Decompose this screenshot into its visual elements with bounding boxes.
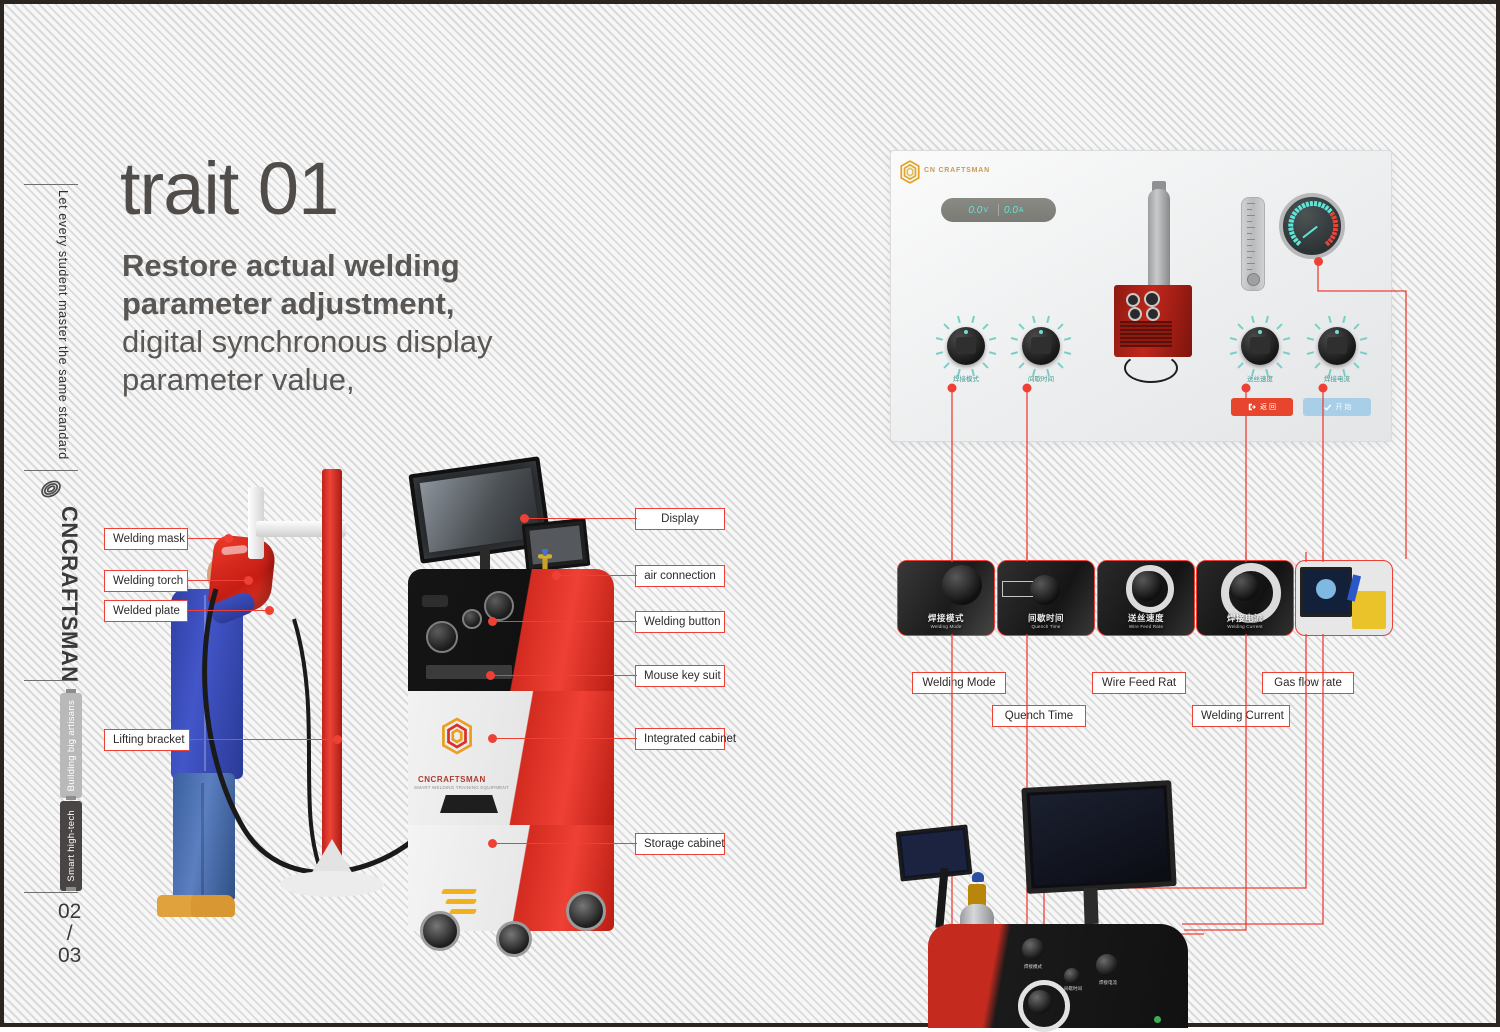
gas-flow-tube (1241, 197, 1265, 291)
back-button-label: 返 回 (1260, 402, 1276, 412)
welder-port (1126, 293, 1140, 307)
knob-ray (1277, 362, 1283, 368)
mode-dial (942, 565, 982, 605)
welder-vent (1120, 321, 1172, 347)
wire-feed-rate-knob[interactable] (1241, 327, 1279, 365)
subtitle-line-4: parameter value, (122, 361, 642, 399)
pill-smart-high-tech: Smart high-tech (60, 801, 82, 891)
cncraftsman-logo-icon (38, 476, 64, 502)
callout-display: Display (635, 508, 725, 530)
panel-tab (422, 595, 448, 607)
simulator-software-panel: CN CRAFTSMAN 0.0 V 0.0 A 焊接模式 间歇时间 送丝速度 (890, 150, 1392, 442)
page-current: 02 (58, 901, 81, 923)
feed-dial (1132, 571, 1162, 601)
mouse-key-drawer[interactable] (440, 795, 498, 813)
callout-welding-button: Welding button (635, 611, 725, 633)
flow-tick (1247, 263, 1255, 264)
panel-brand-label: CN CRAFTSMAN (924, 167, 990, 174)
sidebar-divider (24, 892, 78, 893)
hazard-stripe (441, 889, 477, 894)
subtitle-line-2: parameter adjustment, (122, 285, 642, 323)
callout-dot (520, 514, 529, 523)
knob-ray (1230, 352, 1237, 355)
knob-ray (1046, 316, 1049, 323)
thumbnail-label: 送丝速度Wire Feed Rate (1098, 612, 1194, 629)
knob-ray (1251, 316, 1254, 323)
knob-ray (1360, 351, 1367, 354)
knob-ray (1019, 363, 1025, 369)
leader-line (491, 675, 637, 676)
knob-ray (1058, 362, 1064, 368)
knob-ray (989, 337, 996, 340)
knob-ray (1307, 352, 1314, 355)
knob-ray (1360, 337, 1367, 340)
lifting-bracket-column (322, 469, 342, 861)
current-unit: A (1019, 207, 1024, 214)
station-closeup-photo: 焊接模式 间歇时间 焊接电流 (894, 756, 1374, 1028)
page-total: 03 (58, 945, 81, 967)
flow-tick (1247, 209, 1252, 210)
knob-ray (1283, 337, 1290, 340)
gauge-tick (1288, 228, 1293, 231)
knob-ray (1230, 337, 1237, 340)
flow-tube-float (1247, 273, 1260, 286)
sidebar-divider (24, 680, 78, 681)
current-value: 0.0 (1004, 205, 1018, 216)
hazard-stripe (449, 909, 477, 914)
gauge-tick (1332, 228, 1337, 231)
knob-ray (1314, 324, 1320, 330)
caster-wheel (420, 911, 460, 951)
welder-equipment-illustration (1096, 181, 1216, 401)
callout-integrated-cabinet: Integrated cabinet (635, 728, 725, 750)
callout-dot (224, 534, 233, 543)
leader-line (188, 610, 270, 611)
welding-mode-knob[interactable] (947, 327, 985, 365)
knob-ray (1064, 337, 1071, 340)
caster-wheel (496, 921, 532, 957)
cylinder-handwheel (972, 872, 984, 882)
flow-tick (1247, 221, 1252, 222)
knob-face (1031, 337, 1051, 354)
monitor-stand (1083, 888, 1098, 924)
exit-icon (1248, 403, 1256, 411)
gas-cylinder (1148, 189, 1170, 295)
gauge-needle (1302, 226, 1317, 239)
flow-tick (1247, 239, 1255, 240)
machine-control-face: 焊接模式 间歇时间 焊接电流 (928, 924, 1188, 1028)
welding-current-knob[interactable] (1318, 327, 1356, 365)
welder-port (1128, 307, 1142, 321)
leader-line (188, 580, 250, 581)
flow-tick (1247, 245, 1252, 246)
knob-ray (1011, 337, 1018, 340)
gauge-callout-dot (1314, 257, 1323, 266)
torch-cable-coil (1124, 353, 1178, 383)
knob-ray (1238, 363, 1244, 369)
auxiliary-monitor (896, 824, 973, 881)
knob-ray (1237, 324, 1243, 330)
callout-welding-mask: Welding mask (104, 528, 188, 550)
flow-tick (1247, 251, 1255, 252)
welding-current-dial[interactable] (1096, 954, 1118, 976)
knob-ray (1315, 363, 1321, 369)
bracket-base-disk (280, 871, 384, 897)
sidebar-tagline: Let every student master the same standa… (56, 190, 70, 460)
knob-ray (1057, 323, 1063, 329)
callout-dot (265, 606, 274, 615)
thumbnail-label: 焊接模式Welding Mode (898, 612, 994, 629)
knob-ray (1011, 352, 1018, 355)
leader-line (557, 575, 637, 576)
quench-time-dial[interactable] (462, 609, 482, 629)
pill-cap (66, 796, 76, 800)
quench-dial (1030, 575, 1060, 605)
thumbnail-welding-mode[interactable]: 焊接模式Welding Mode (897, 560, 995, 636)
quench-time-knob-label: 间歇时间 (1012, 373, 1070, 383)
knob-indicator (1335, 330, 1339, 334)
thumbnail-wire-feed-rate[interactable]: 送丝速度Wire Feed Rate (1097, 560, 1195, 636)
callout-mouse-key-suit: Mouse key suit (635, 665, 725, 687)
pill-cap (66, 887, 76, 891)
voltage-value: 0.0 (968, 205, 982, 216)
check-icon (1323, 403, 1332, 412)
callout-lifting-bracket: Lifting bracket (104, 729, 190, 751)
leader-line (493, 843, 637, 844)
thumbnail-gas-flow-rate[interactable] (1295, 560, 1393, 636)
knob-ray (1328, 316, 1331, 323)
subtitle-line-3: digital synchronous display (122, 323, 642, 361)
poster-page: Let every student master the same standa… (0, 0, 1500, 1027)
gauge-tick (1309, 201, 1312, 206)
thumbnail-quench-time[interactable]: 间歇时间Quench Time (997, 560, 1095, 636)
callout-welded-plate: Welded plate (104, 600, 188, 622)
gauge-tick (1288, 219, 1293, 223)
knob-indicator (1258, 330, 1262, 334)
callout-welding-current: Welding Current (1192, 705, 1290, 727)
dial-label: 焊接电流 (1084, 980, 1132, 986)
callout-air-connection: air connection (635, 565, 725, 587)
leader-line (525, 518, 637, 519)
knob-ray (957, 316, 960, 323)
flow-tick (1247, 215, 1255, 216)
welding-mode-knob-label: 焊接模式 (937, 373, 995, 383)
knob-ray (989, 351, 996, 354)
knob-ray (1032, 316, 1035, 323)
callout-dot (552, 571, 561, 580)
gauge-tick (1288, 224, 1293, 227)
knob-indicator (964, 330, 968, 334)
back-button[interactable]: 返 回 (1231, 398, 1293, 416)
knob-ray (1353, 323, 1359, 329)
knob-ray (1064, 351, 1071, 354)
knob-ray (1342, 316, 1345, 323)
knob-ray (943, 324, 949, 330)
callout-dot (486, 671, 495, 680)
welding-current-knob-label: 焊接电流 (1308, 373, 1366, 383)
knob-face (1327, 337, 1347, 354)
knob-face (1250, 337, 1270, 354)
flow-tick (1247, 203, 1255, 204)
flow-tick (1247, 269, 1252, 270)
knob-ray (1276, 323, 1282, 329)
knob-ray (982, 323, 988, 329)
subtitle-line-1: Restore actual welding (122, 247, 642, 285)
page-title: trait 01 (120, 146, 338, 231)
thumbnail-label: 焊接电流Welding Current (1197, 612, 1293, 629)
readout-separator (998, 204, 999, 216)
knob-ray (936, 337, 943, 340)
welding-current-dial[interactable] (426, 621, 458, 653)
sidebar-divider (24, 470, 78, 471)
callout-welding-mode: Welding Mode (912, 672, 1006, 694)
knob-ray (1018, 324, 1024, 330)
sidebar: Let every student master the same standa… (18, 8, 84, 1023)
callout-dot (244, 576, 253, 585)
knob-ray (971, 316, 974, 323)
dial-label: 间歇时间 (1052, 986, 1094, 992)
quench-time-dial[interactable] (1064, 968, 1080, 984)
quench-time-knob[interactable] (1022, 327, 1060, 365)
thumbnail-label: 间歇时间Quench Time (998, 612, 1094, 629)
callout-storage-cabinet: Storage cabinet (635, 833, 725, 855)
power-indicator (1154, 1016, 1161, 1023)
dial-label: 焊接模式 (1008, 964, 1058, 970)
knob-ray (1354, 362, 1360, 368)
callout-welding-torch: Welding torch (104, 570, 188, 592)
knob-ray (1265, 316, 1268, 323)
panel-logo-icon (899, 160, 921, 184)
flow-tube-ticks (1247, 203, 1259, 273)
leader-line (493, 738, 637, 739)
sidebar-brand-name: CNCRAFTSMAN (56, 506, 82, 683)
main-monitor (1021, 780, 1176, 894)
machine-logo-text: CNCRAFTSMAN (418, 775, 486, 784)
pill-building-big-artisans: Building big artisans (60, 693, 82, 798)
knob-ray (944, 363, 950, 369)
flow-tick (1247, 227, 1255, 228)
page-separator: / (58, 923, 81, 945)
knob-face (956, 337, 976, 354)
page-number: 02 / 03 (58, 901, 81, 967)
gauge-tick (1313, 201, 1316, 206)
wire-feed-rate-knob-label: 送丝速度 (1231, 373, 1289, 383)
thumb-glove (1352, 591, 1386, 629)
callout-dot (488, 617, 497, 626)
welding-mode-dial[interactable] (1022, 938, 1044, 960)
machine-brand-logo (430, 717, 494, 773)
panel-label-strip (426, 665, 512, 679)
gauge-tick (1332, 219, 1337, 223)
machine-logo-subtext: SMART WELDING TRAINING EQUIPMENT (414, 785, 509, 790)
knob-ray (1307, 337, 1314, 340)
callout-dot (333, 735, 342, 744)
welder-port (1144, 291, 1160, 307)
flow-tick (1247, 233, 1252, 234)
gas-pressure-gauge (1279, 193, 1345, 259)
callout-quench-time: Quench Time (992, 705, 1086, 727)
pill-dark-label: Smart high-tech (66, 810, 77, 882)
callout-gas-flow-rate: Gas flow rate (1262, 672, 1354, 694)
knob-ray (936, 352, 943, 355)
wire-feed-dial[interactable] (1028, 990, 1052, 1014)
current-dial (1231, 573, 1259, 601)
sidebar-divider (24, 184, 78, 185)
page-subtitle: Restore actual welding parameter adjustm… (122, 247, 642, 399)
welder-port (1146, 307, 1160, 321)
callout-dot (488, 734, 497, 743)
start-button[interactable]: 开 始 (1303, 398, 1371, 416)
leader-line (190, 739, 338, 740)
thumbnail-welding-current[interactable]: 焊接电流Welding Current (1196, 560, 1294, 636)
callout-wire-feed-rate: Wire Feed Rat (1092, 672, 1186, 694)
leader-line (493, 621, 637, 622)
welder-unit (1114, 285, 1192, 357)
callout-dot (488, 839, 497, 848)
gauge-tick (1333, 224, 1338, 227)
pill-light-label: Building big artisans (66, 700, 77, 791)
digital-readout: 0.0 V 0.0 A (941, 198, 1056, 222)
wire-feed-dial[interactable] (484, 591, 514, 621)
training-station-photo: CNCRAFTSMAN SMART WELDING TRAINING EQUIP… (134, 459, 654, 979)
flow-tick (1247, 257, 1252, 258)
knob-ray (983, 362, 989, 368)
start-button-label: 开 始 (1336, 402, 1352, 412)
voltage-unit: V (983, 207, 988, 214)
welding-simulator-machine: CNCRAFTSMAN SMART WELDING TRAINING EQUIP… (384, 459, 644, 959)
secondary-display-monitor (522, 518, 591, 572)
caster-wheel (566, 891, 606, 931)
knob-indicator (1039, 330, 1043, 334)
knob-ray (1283, 351, 1290, 354)
hazard-stripe (445, 899, 477, 904)
